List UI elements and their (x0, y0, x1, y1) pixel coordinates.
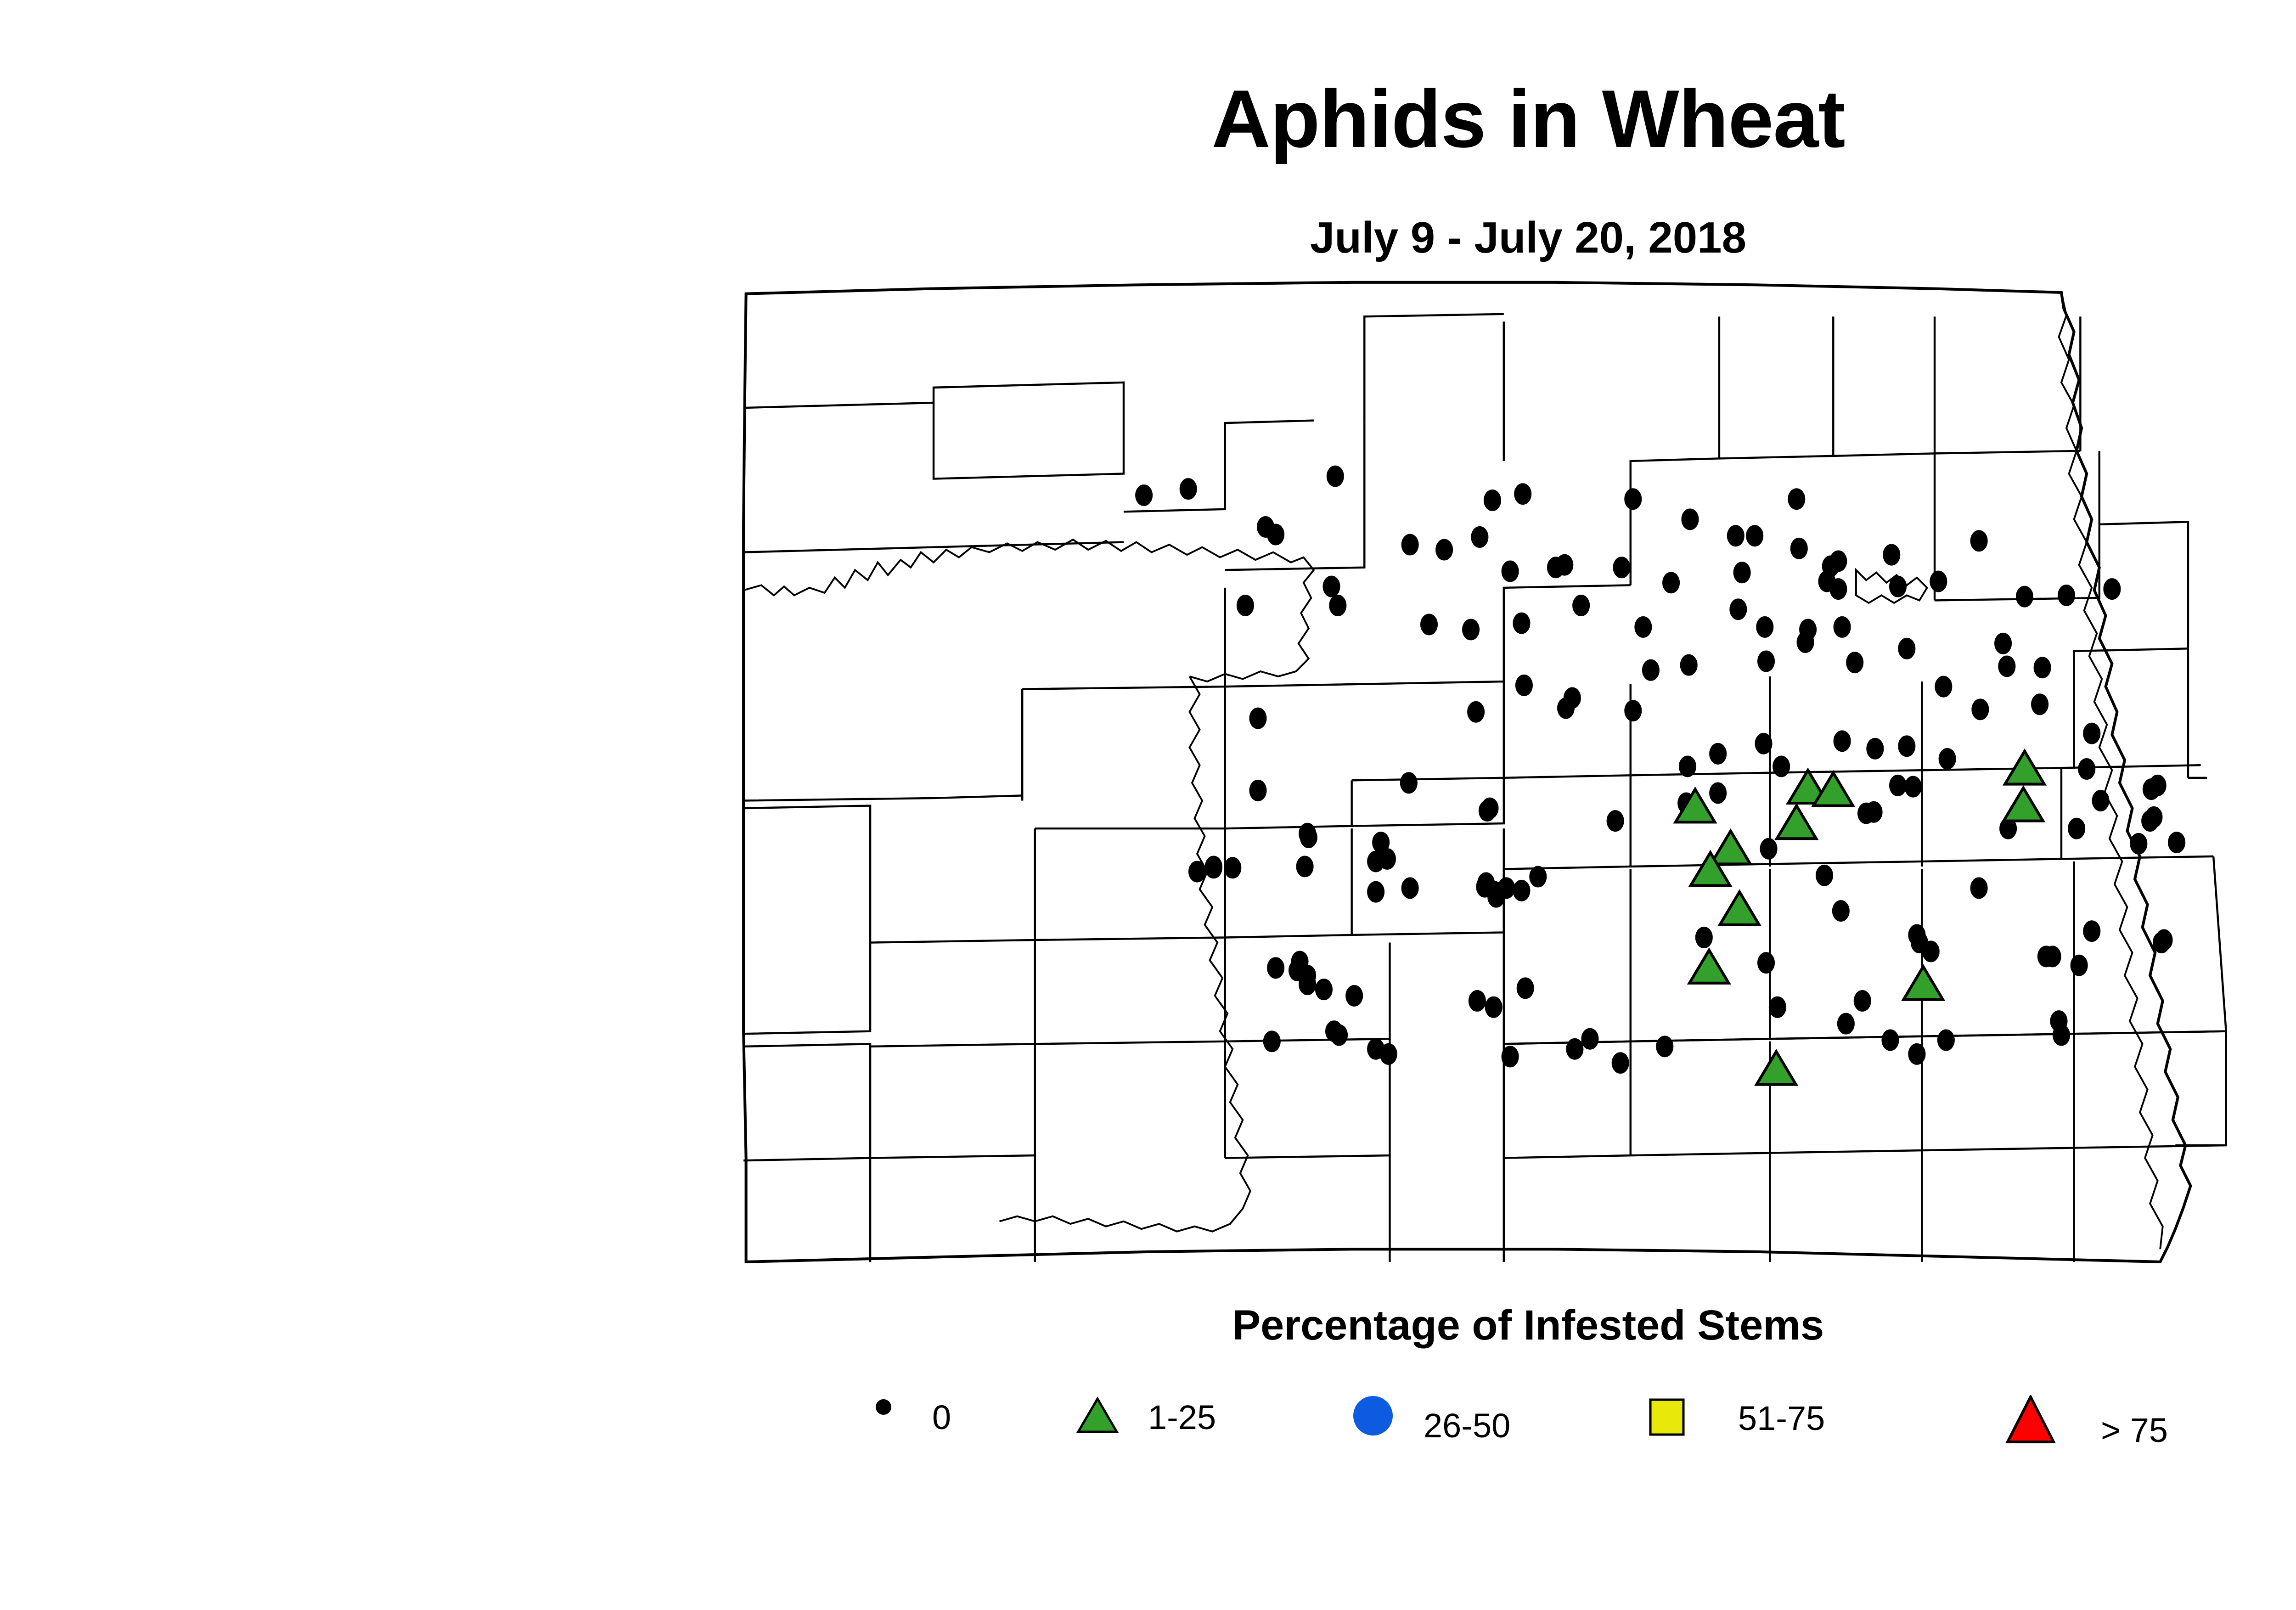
map-marker-zero (2034, 658, 2050, 678)
legend-label-1-25: 1-25 (1148, 1401, 1216, 1435)
map-marker-zero (1834, 731, 1850, 751)
legend-label-gt-75: > 75 (2101, 1413, 2168, 1447)
map-marker-zero (1734, 563, 1750, 583)
map-marker-zero (1484, 490, 1500, 510)
map-marker-zero (1463, 619, 1479, 640)
county-line-h62 (1770, 1036, 1922, 1153)
county-line-h27 (1922, 648, 2188, 770)
map-marker-zero (1909, 1044, 1925, 1064)
county-line-h6 (1022, 588, 1225, 689)
map-marker-zero (1882, 1030, 1898, 1050)
map-marker-zero (1297, 856, 1313, 877)
map-marker-zero (1516, 675, 1532, 695)
map-marker-zero (1573, 595, 1589, 615)
map-marker-zero (1834, 617, 1850, 637)
county-line-h39 (1035, 828, 1225, 940)
map-marker-zero (1930, 571, 1947, 591)
map-marker-zero (1558, 698, 1574, 718)
map-marker-zero (1530, 867, 1546, 887)
map-marker-zero (1938, 1030, 1954, 1050)
map-marker-zero (1773, 756, 1789, 777)
county-line-h60 (1631, 1041, 1770, 1155)
map-marker-zero (1899, 638, 1915, 659)
map-marker-zero (1625, 489, 1641, 509)
map-marker-zero (1791, 538, 1807, 558)
map-marker-zero (1502, 1047, 1518, 1067)
map-marker-zero (1657, 1036, 1673, 1057)
map-marker-zero (1486, 997, 1502, 1017)
county-line-h57 (1504, 1031, 2226, 1044)
map-marker-zero (1769, 997, 1785, 1017)
map-marker-zero (1189, 861, 1205, 882)
map-marker-zero (2084, 723, 2100, 743)
county-line-h42 (1035, 937, 1225, 1044)
county-line-h58 (1504, 1044, 1631, 1158)
map-marker-zero (1136, 485, 1152, 505)
map-marker-zero (1833, 901, 1849, 921)
county-line-h12 (1719, 316, 1833, 458)
map-marker-zero (1923, 941, 1939, 962)
map-marker-zero (1250, 780, 1266, 800)
map-marker-zero (1264, 1031, 1280, 1052)
map-marker-zero (1747, 526, 1763, 546)
map-marker-zero (1582, 1029, 1598, 1049)
map-marker-zero (1758, 651, 1774, 671)
map-marker-zero (2053, 1025, 2069, 1045)
green-triangle-icon (1075, 1395, 1125, 1446)
map-marker-zero (1421, 614, 1437, 635)
page-subtitle: July 9 - July 20, 2018 (0, 216, 2296, 260)
figure-canvas: Aphids in Wheat July 9 - July 20, 2018 (0, 0, 2296, 1610)
map-marker-zero (1250, 708, 1266, 728)
map-marker-1-25 (2003, 788, 2043, 821)
map-marker-zero (2156, 930, 2172, 950)
map-marker-zero (1514, 613, 1530, 633)
map-marker-zero (1710, 783, 1726, 803)
map-marker-zero (1614, 557, 1630, 578)
county-line-h38 (870, 940, 1035, 1047)
map-marker-zero (1514, 880, 1530, 901)
map-marker-zero (1205, 856, 1221, 877)
map-marker-zero (1971, 531, 1987, 551)
map-marker-zero (1517, 978, 1533, 998)
map-marker-zero (1367, 851, 1384, 872)
county-line-h36 (870, 828, 1035, 942)
map-marker-zero (1237, 595, 1253, 615)
map-marker-zero (1972, 699, 1988, 720)
map-marker-zero (1225, 858, 1241, 878)
county-line-h9 (1225, 585, 1631, 687)
north-dakota-county-map[interactable] (707, 271, 2296, 1272)
map-marker-zero (1367, 882, 1384, 902)
county-line-h63 (1922, 1034, 2074, 1150)
map-marker-zero (1847, 653, 1863, 673)
map-marker-zero (2016, 586, 2032, 607)
map-marker-zero (1612, 1053, 1628, 1073)
county-line-h44 (743, 1044, 870, 1160)
legend-label-0: 0 (932, 1401, 951, 1435)
map-marker-zero (1858, 803, 1874, 823)
county-line-h18 (1352, 681, 1504, 780)
map-marker-zero (1635, 617, 1651, 637)
missouri-river (1000, 676, 1250, 1232)
map-marker-zero (1890, 775, 1906, 795)
county-line-h53 (1631, 869, 1770, 1041)
legend: 0 1-25 26-50 51-75 > 75 (872, 1382, 2250, 1474)
map-marker-zero (1854, 991, 1870, 1011)
map-marker-zero (1682, 509, 1698, 529)
map-marker-zero (1789, 489, 1805, 509)
map-marker-zero (1469, 991, 1485, 1011)
legend-title: Percentage of Infested Stems (0, 1304, 2296, 1346)
map-marker-zero (1316, 980, 1332, 1000)
county-line-h40 (1225, 828, 1352, 937)
county-line-h32 (1225, 780, 1352, 828)
map-marker-zero (1679, 756, 1695, 777)
county-line-h8 (1364, 314, 1504, 423)
map-marker-zero (1472, 527, 1488, 547)
map-marker-zero (1838, 1013, 1854, 1034)
map-marker-zero (2032, 694, 2048, 715)
map-marker-zero (1905, 777, 1921, 797)
map-marker-zero (1402, 878, 1418, 898)
map-marker-zero (1436, 540, 1452, 560)
map-marker-zero (1625, 700, 1641, 721)
map-marker-zero (1663, 573, 1679, 593)
map-marker-1-25 (1777, 806, 1816, 839)
map-marker-zero (1971, 878, 1987, 898)
small-black-circle-icon (872, 1395, 905, 1427)
map-marker-1-25 (1756, 1052, 1796, 1085)
map-marker-zero (1939, 749, 1955, 769)
map-marker-1-25 (1903, 967, 1943, 1000)
county-line-h15 (1935, 451, 2080, 454)
map-marker-zero (1681, 655, 1697, 675)
legend-label-51-75: 51-75 (1738, 1402, 1825, 1435)
map-marker-zero (2168, 832, 2184, 852)
map-marker-zero (1326, 1021, 1342, 1041)
legend-label-26-50: 26-50 (1424, 1409, 1510, 1443)
page-title: Aphids in Wheat (0, 78, 2296, 160)
map-marker-zero (1757, 617, 1773, 637)
map-marker-zero (1899, 736, 1915, 756)
county-line-h35 (743, 806, 870, 943)
county-line-h33 (1352, 778, 1504, 826)
map-marker-zero (1468, 702, 1484, 722)
map-marker-zero (2093, 790, 2109, 811)
map-marker-zero (1180, 479, 1196, 499)
map-marker-zero (1479, 800, 1495, 821)
map-marker-zero (1758, 953, 1774, 973)
map-marker-zero (1797, 632, 1813, 652)
map-marker-zero (1380, 1044, 1396, 1064)
map-marker-zero (1300, 827, 1317, 847)
map-marker-zero (1995, 633, 2011, 653)
state-outline (743, 282, 2190, 1262)
county-line-h37 (743, 943, 870, 1034)
map-marker-zero (1816, 865, 1832, 885)
map-marker-zero (1567, 1039, 1583, 1059)
map-marker-zero (2038, 946, 2054, 967)
map-marker-zero (1267, 958, 1283, 978)
map-marker-zero (1299, 965, 1315, 985)
map-marker-zero (2146, 807, 2162, 827)
map-marker-zero (1607, 811, 1623, 831)
map-marker-1-25 (1720, 892, 1759, 925)
map-marker-zero (1401, 773, 1417, 793)
map-marker-zero (1323, 576, 1339, 597)
county-line-h49 (1225, 1039, 1390, 1158)
map-marker-zero (1761, 839, 1777, 859)
map-marker-zero (1327, 466, 1343, 486)
map-marker-zero (2084, 921, 2100, 941)
map-marker-zero (1643, 660, 1659, 680)
yellow-square-icon (1644, 1395, 1694, 1446)
map-marker-zero (1696, 927, 1712, 947)
county-line-h17 (1935, 451, 2099, 601)
lake-sakakawea (743, 540, 1314, 681)
county-line-h13 (1833, 453, 1935, 600)
map-marker-zero (1710, 743, 1726, 764)
red-triangle-icon (2002, 1395, 2062, 1455)
map-marker-zero (1515, 484, 1531, 504)
map-marker-zero (1999, 656, 2015, 676)
map-marker-zero (2104, 579, 2120, 599)
map-marker-zero (1728, 526, 1744, 546)
map-marker-zero (2058, 585, 2074, 605)
map-marker-zero (1502, 561, 1518, 581)
map-marker-zero (2071, 955, 2087, 975)
map-counties (743, 282, 2226, 1262)
county-line-h23 (1631, 676, 1770, 775)
map-marker-zero (2150, 775, 2166, 795)
county-line-h1 (743, 403, 934, 408)
county-line-h7 (1225, 423, 1365, 570)
map-marker-zero (1557, 555, 1573, 575)
county-line-h11 (1631, 316, 1719, 585)
map-marker-zero (1330, 595, 1346, 615)
map-marker-zero (1267, 524, 1283, 545)
map-marker-zero (2079, 759, 2095, 779)
map-marker-zero (2131, 833, 2147, 854)
map-marker-1-25 (1711, 831, 1750, 864)
map-marker-zero (1488, 887, 1504, 907)
blue-circle-icon (1350, 1395, 1401, 1446)
map-marker-zero (1890, 576, 1906, 597)
map-marker-zero (1884, 545, 1900, 565)
map-marker-zero (2068, 818, 2084, 839)
county-line-h45 (870, 1044, 1035, 1158)
map-marker-zero (1756, 733, 1772, 754)
map-marker-zero (1730, 599, 1746, 619)
map-marker-zero (1402, 535, 1418, 555)
county-line-h2 (934, 383, 1124, 479)
map-marker-zero (1936, 676, 1952, 697)
map-marker-1-25 (1689, 950, 1729, 983)
county-line-h5 (743, 795, 1022, 800)
map-marker-zero (1830, 579, 1846, 599)
county-line-h31 (1504, 856, 2213, 869)
map-marker-zero (1346, 985, 1362, 1006)
map-svg (707, 271, 2296, 1272)
county-line-h25 (1770, 681, 1922, 773)
map-marker-zero (1867, 738, 1883, 759)
